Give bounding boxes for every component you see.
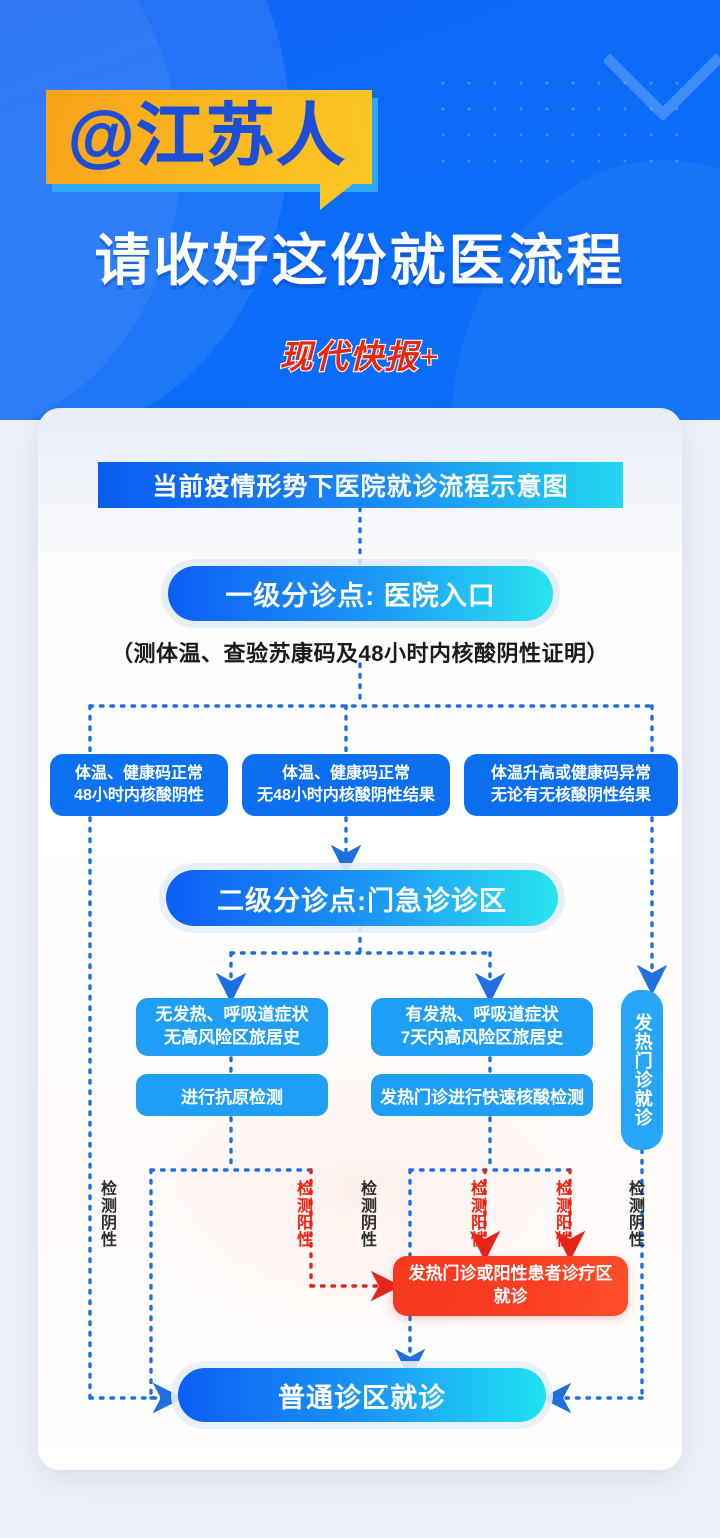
node-level2-triage[interactable]: 二级分诊点:门急诊诊区 — [166, 870, 558, 926]
edge-label-positive-3: 检测阳性 — [553, 1180, 569, 1248]
node-antigen-test[interactable]: 进行抗原检测 — [136, 1074, 328, 1116]
edge-label-negative-2: 检测阴性 — [358, 1180, 374, 1248]
symptom-left-line-1: 无发热、呼吸道症状 — [156, 1005, 309, 1024]
page-title: 请收好这份就医流程 — [0, 216, 720, 297]
criteria-3-line-1: 体温升高或健康码异常 — [491, 765, 651, 782]
edge-label-positive-1: 检测阳性 — [294, 1180, 310, 1248]
symptom-right-line-1: 有发热、呼吸道症状 — [406, 1005, 559, 1024]
symptom-left-line-2: 无高风险区旅居史 — [164, 1028, 300, 1047]
edge-label-negative-3: 检测阴性 — [626, 1180, 642, 1248]
publisher-logo: 现代快报+ — [0, 330, 720, 378]
node-symptom-none[interactable]: 无发热、呼吸道症状 无高风险区旅居史 — [136, 998, 328, 1056]
level1-note: （测体温、查验苏康码及48小时内核酸阴性证明） — [38, 636, 682, 668]
node-criteria-2[interactable]: 体温、健康码正常 无48小时内核酸阴性结果 — [242, 754, 450, 816]
node-rapid-pcr-test[interactable]: 发热门诊进行快速核酸检测 — [371, 1074, 593, 1116]
node-criteria-1[interactable]: 体温、健康码正常 48小时内核酸阴性 — [50, 754, 228, 816]
symptom-right-line-2: 7天内高风险区旅居史 — [401, 1028, 563, 1047]
criteria-1-line-1: 体温、健康码正常 — [75, 765, 203, 782]
node-positive-treatment-area[interactable]: 发热门诊或阳性患者诊疗区 就诊 — [393, 1256, 628, 1316]
red-node-line-1: 发热门诊或阳性患者诊疗区 — [409, 1264, 613, 1283]
criteria-2-line-1: 体温、健康码正常 — [282, 765, 410, 782]
node-symptom-fever[interactable]: 有发热、呼吸道症状 7天内高风险区旅居史 — [371, 998, 593, 1056]
badge-label: @江苏人 — [68, 102, 346, 170]
badge-tail-icon — [320, 183, 354, 210]
node-fever-clinic-visit[interactable]: 发热门诊就诊 — [621, 990, 663, 1150]
hero-banner: @江苏人 请收好这份就医流程 现代快报+ — [0, 0, 720, 420]
flow-banner-title: 当前疫情形势下医院就诊流程示意图 — [98, 462, 623, 508]
audience-badge: @江苏人 — [46, 90, 372, 184]
criteria-2-line-2: 无48小时内核酸阴性结果 — [257, 787, 435, 804]
flowchart-card: 当前疫情形势下医院就诊流程示意图 一级分诊点: 医院入口 （测体温、查验苏康码及… — [38, 408, 682, 1470]
node-criteria-3[interactable]: 体温升高或健康码异常 无论有无核酸阴性结果 — [464, 754, 678, 816]
red-node-line-2: 就诊 — [494, 1287, 528, 1306]
edge-label-negative-1: 检测阴性 — [98, 1180, 114, 1248]
criteria-1-line-2: 48小时内核酸阴性 — [74, 787, 204, 804]
node-general-clinic-visit[interactable]: 普通诊区就诊 — [178, 1368, 546, 1422]
badge-body: @江苏人 — [46, 90, 372, 184]
node-level1-triage[interactable]: 一级分诊点: 医院入口 — [168, 566, 553, 621]
flowchart: 当前疫情形势下医院就诊流程示意图 一级分诊点: 医院入口 （测体温、查验苏康码及… — [38, 408, 682, 1470]
edge-label-positive-2: 检测阳性 — [468, 1180, 484, 1248]
criteria-3-line-2: 无论有无核酸阴性结果 — [491, 787, 651, 804]
